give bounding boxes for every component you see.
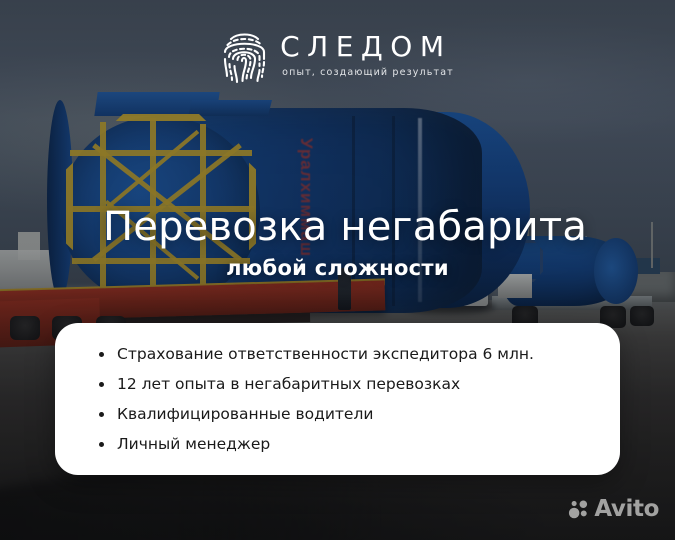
- hero-subheadline: любой сложности: [0, 256, 675, 280]
- avito-dots-icon: [568, 499, 589, 520]
- logo-text-block: СЛЕДОМ опыт, создающий результат: [280, 32, 454, 77]
- list-item: Страхование ответственности экспедитора …: [55, 339, 620, 369]
- avito-watermark: Avito: [568, 498, 659, 521]
- brand-logo: СЛЕДОМ опыт, создающий результат: [0, 26, 675, 84]
- hero-headline: Перевозка негабарита: [103, 206, 587, 248]
- features-card: Страхование ответственности экспедитора …: [55, 323, 620, 475]
- list-item: 12 лет опыта в негабаритных перевозках: [55, 369, 620, 399]
- logo-tagline: опыт, создающий результат: [282, 67, 454, 78]
- promo-banner: Уралхиммаш: [0, 0, 675, 540]
- features-list: Страхование ответственности экспедитора …: [55, 339, 620, 459]
- fingerprint-icon: [221, 26, 268, 84]
- list-item: Квалифицированные водители: [55, 399, 620, 429]
- avito-label: Avito: [594, 498, 659, 521]
- logo-brand-name: СЛЕДОМ: [280, 32, 451, 61]
- list-item: Личный менеджер: [55, 429, 620, 459]
